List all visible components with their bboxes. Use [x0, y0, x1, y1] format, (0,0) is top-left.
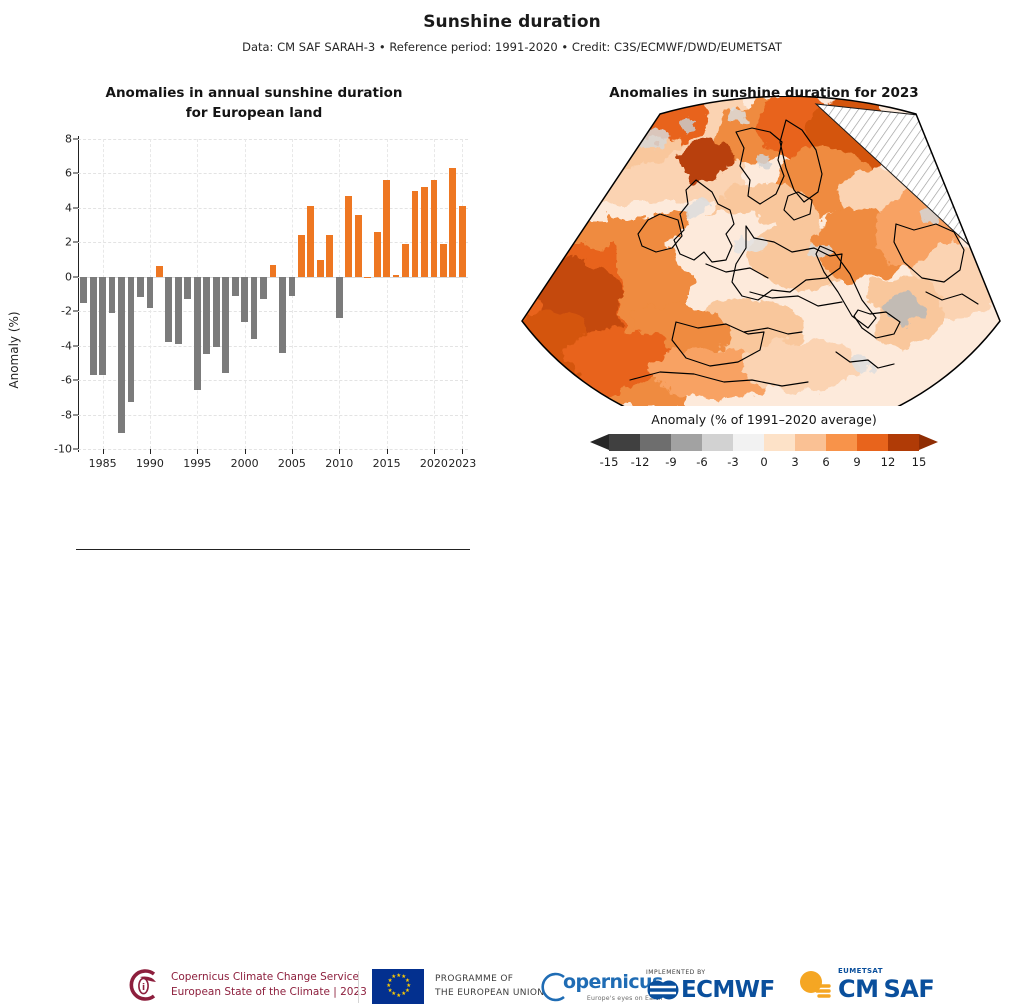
map-data-layer	[500, 96, 1024, 406]
y-axis-label: Anomaly (%)	[7, 311, 21, 388]
bar-1994	[184, 277, 191, 299]
y-tick-label: -4	[61, 339, 72, 352]
gridline-y	[78, 380, 468, 381]
y-tick-mark	[73, 449, 78, 450]
gridline-y	[78, 242, 468, 243]
colorbar-swatch-5	[764, 434, 795, 451]
colorbar-strip	[609, 434, 919, 451]
y-tick-label: -8	[61, 408, 72, 421]
colorbar-tick-label: 3	[791, 455, 798, 469]
x-tick-mark	[292, 449, 293, 454]
x-tick-label: 2005	[278, 457, 306, 470]
y-tick-label: -6	[61, 374, 72, 387]
logo-ecmwf: IMPLEMENTED BY ECMWF	[646, 969, 775, 1002]
eu-label-line2: THE EUROPEAN UNION	[435, 987, 544, 1001]
bar-2001	[251, 277, 258, 339]
x-tick-label: 1990	[136, 457, 164, 470]
bar-chart-title-line1: Anomalies in annual sunshine duration	[106, 85, 403, 101]
bar-1988	[128, 277, 135, 403]
colorbar-tick-label: -3	[727, 455, 738, 469]
bar-1993	[175, 277, 182, 344]
colorbar-tick-label: 6	[822, 455, 829, 469]
logo-copernicus: opernicus Europe's eyes on Earth	[537, 971, 663, 1003]
colorbar-swatch-8	[857, 434, 888, 451]
bar-2006	[298, 235, 305, 276]
colorbar-over-arrow	[919, 434, 938, 450]
bar-1983	[80, 277, 87, 303]
y-tick-label: 0	[65, 270, 72, 283]
bar-1998	[222, 277, 229, 373]
y-tick-mark	[73, 207, 78, 208]
bar-1984	[90, 277, 97, 375]
bar-2000	[241, 277, 248, 322]
c3s-mark-icon: i	[124, 967, 162, 1003]
y-tick-mark	[73, 242, 78, 243]
colorbar-tick-label: -6	[696, 455, 707, 469]
x-tick-mark	[387, 449, 388, 454]
c3s-label-line1: Copernicus Climate Change Service	[171, 970, 367, 985]
bar-2013	[364, 277, 371, 279]
bar-2009	[326, 235, 333, 276]
gridline-y	[78, 311, 468, 312]
y-tick-mark	[73, 311, 78, 312]
eu-star-icon: ★	[388, 990, 391, 993]
x-tick-label: 2000	[231, 457, 259, 470]
europe-anomaly-map	[500, 96, 1024, 406]
bar-1997	[213, 277, 220, 348]
x-tick-mark	[197, 449, 198, 454]
eu-star-icon: ★	[405, 990, 408, 993]
colorbar-tick-label: -9	[665, 455, 676, 469]
bar-2008	[317, 260, 324, 277]
colorbar-under-arrow	[590, 434, 609, 450]
svg-text:i: i	[142, 983, 145, 993]
eu-flag-icon: ★★★★★★★★★★★★	[372, 969, 424, 1004]
colorbar-swatch-3	[702, 434, 733, 451]
colorbar-swatch-4	[733, 434, 764, 451]
eu-star-icon: ★	[388, 980, 391, 983]
bar-2002	[260, 277, 267, 299]
x-tick-mark	[339, 449, 340, 454]
plot-area: 86420-2-4-6-8-10198519901995200020052010…	[78, 139, 468, 449]
y-tick-mark	[73, 380, 78, 381]
bar-2014	[374, 232, 381, 277]
eu-star-icon: ★	[386, 985, 389, 988]
y-tick-label: -10	[54, 443, 72, 456]
bar-1999	[232, 277, 239, 296]
y-tick-label: 6	[65, 167, 72, 180]
y-tick-label: 2	[65, 236, 72, 249]
bar-2011	[345, 196, 352, 277]
bar-2016	[393, 275, 400, 277]
x-tick-mark	[150, 449, 151, 454]
y-tick-mark	[73, 173, 78, 174]
map-panel	[500, 96, 1024, 436]
eu-star-icon: ★	[401, 993, 404, 996]
colorbar-tick-label: 15	[912, 455, 927, 469]
x-tick-mark	[462, 449, 463, 454]
y-tick-mark	[73, 345, 78, 346]
bar-1995	[194, 277, 201, 391]
gridline-y	[78, 208, 468, 209]
x-tick-label: 1985	[89, 457, 117, 470]
bar-2003	[270, 265, 277, 277]
colorbar-title: Anomaly (% of 1991–2020 average)	[520, 412, 1008, 427]
bar-1989	[137, 277, 144, 298]
bar-2022	[449, 168, 456, 277]
x-tick-mark	[434, 449, 435, 454]
x-tick-label: 2015	[373, 457, 401, 470]
colorbar-swatch-1	[640, 434, 671, 451]
x-axis-line	[76, 549, 470, 550]
eu-star-icon: ★	[391, 976, 394, 979]
x-tick-label: 2010	[325, 457, 353, 470]
bar-1992	[165, 277, 172, 342]
bar-1996	[203, 277, 210, 355]
y-tick-label: 8	[65, 133, 72, 146]
bar-1991	[156, 266, 163, 276]
bar-2020	[431, 180, 438, 276]
bar-2007	[307, 206, 314, 277]
eu-star-icon: ★	[396, 975, 399, 978]
gridline-y	[78, 346, 468, 347]
colorbar-tick-label: 12	[881, 455, 896, 469]
colorbar-tick-label: 0	[760, 455, 767, 469]
bar-2019	[421, 187, 428, 277]
bar-2015	[383, 180, 390, 276]
bar-2018	[412, 191, 419, 277]
cmsaf-wordmark-cm: CM	[838, 975, 879, 1003]
colorbar-tick-label: 9	[853, 455, 860, 469]
gridline-y	[78, 415, 468, 416]
bar-2004	[279, 277, 286, 353]
bar-2010	[336, 277, 343, 318]
bar-2005	[289, 277, 296, 296]
bar-1990	[147, 277, 154, 308]
x-tick-mark	[245, 449, 246, 454]
page-title: Sunshine duration	[0, 12, 1024, 32]
x-tick-label: 2023	[448, 457, 476, 470]
eu-label-line1: PROGRAMME OF	[435, 973, 544, 987]
cmsaf-kicker: EUMETSAT	[838, 967, 934, 975]
bar-2023	[459, 206, 466, 277]
bar-1986	[109, 277, 116, 313]
colorbar-swatch-0	[609, 434, 640, 451]
x-tick-mark	[103, 449, 104, 454]
cmsaf-wordmark-saf: SAF	[884, 975, 935, 1003]
gridline-y	[78, 139, 468, 140]
bar-2012	[355, 215, 362, 277]
eu-star-icon: ★	[396, 995, 399, 998]
colorbar-swatch-2	[671, 434, 702, 451]
logo-european-union: ★★★★★★★★★★★★ PROGRAMME OF THE EUROPEAN U…	[372, 969, 544, 1004]
bar-2017	[402, 244, 409, 277]
colorbar-tick-label: -15	[600, 455, 619, 469]
y-tick-label: 4	[65, 201, 72, 214]
ecmwf-mark-icon	[646, 978, 680, 1002]
footer-divider-1	[358, 971, 359, 1003]
figure-root: Sunshine duration Data: CM SAF SARAH-3 •…	[0, 0, 1024, 537]
c3s-label-line2: European State of the Climate | 2023	[171, 985, 367, 1000]
gridline-x	[462, 139, 463, 449]
logo-c3s: i Copernicus Climate Change Service Euro…	[124, 967, 367, 1003]
bar-1987	[118, 277, 125, 434]
ecmwf-kicker: IMPLEMENTED BY	[646, 969, 775, 976]
bar-2021	[440, 244, 447, 277]
colorbar-swatch-6	[795, 434, 826, 451]
eu-star-icon: ★	[405, 980, 408, 983]
gridline-y	[78, 449, 468, 450]
colorbar: Anomaly (% of 1991–2020 average) -15-12-…	[520, 412, 1008, 474]
y-tick-mark	[73, 414, 78, 415]
x-tick-label: 2020	[420, 457, 448, 470]
colorbar-swatch-7	[826, 434, 857, 451]
ecmwf-wordmark: ECMWF	[681, 979, 775, 1002]
colorbar-swatch-9	[888, 434, 919, 451]
bar-chart: Anomaly (%) 86420-2-4-6-8-10198519901995…	[0, 100, 500, 480]
colorbar-tick-label: -12	[631, 455, 650, 469]
y-tick-label: -2	[61, 305, 72, 318]
bar-1985	[99, 277, 106, 375]
footer-logos: i Copernicus Climate Change Service Euro…	[0, 477, 1024, 537]
page-subtitle: Data: CM SAF SARAH-3 • Reference period:…	[0, 40, 1024, 54]
x-tick-label: 1995	[183, 457, 211, 470]
eu-star-icon: ★	[406, 985, 409, 988]
eu-star-icon: ★	[391, 993, 394, 996]
gridline-y	[78, 173, 468, 174]
logo-cm-saf: EUMETSAT CMSAF	[795, 967, 934, 1001]
eumetsat-sun-icon	[795, 967, 831, 1001]
y-tick-mark	[73, 139, 78, 140]
